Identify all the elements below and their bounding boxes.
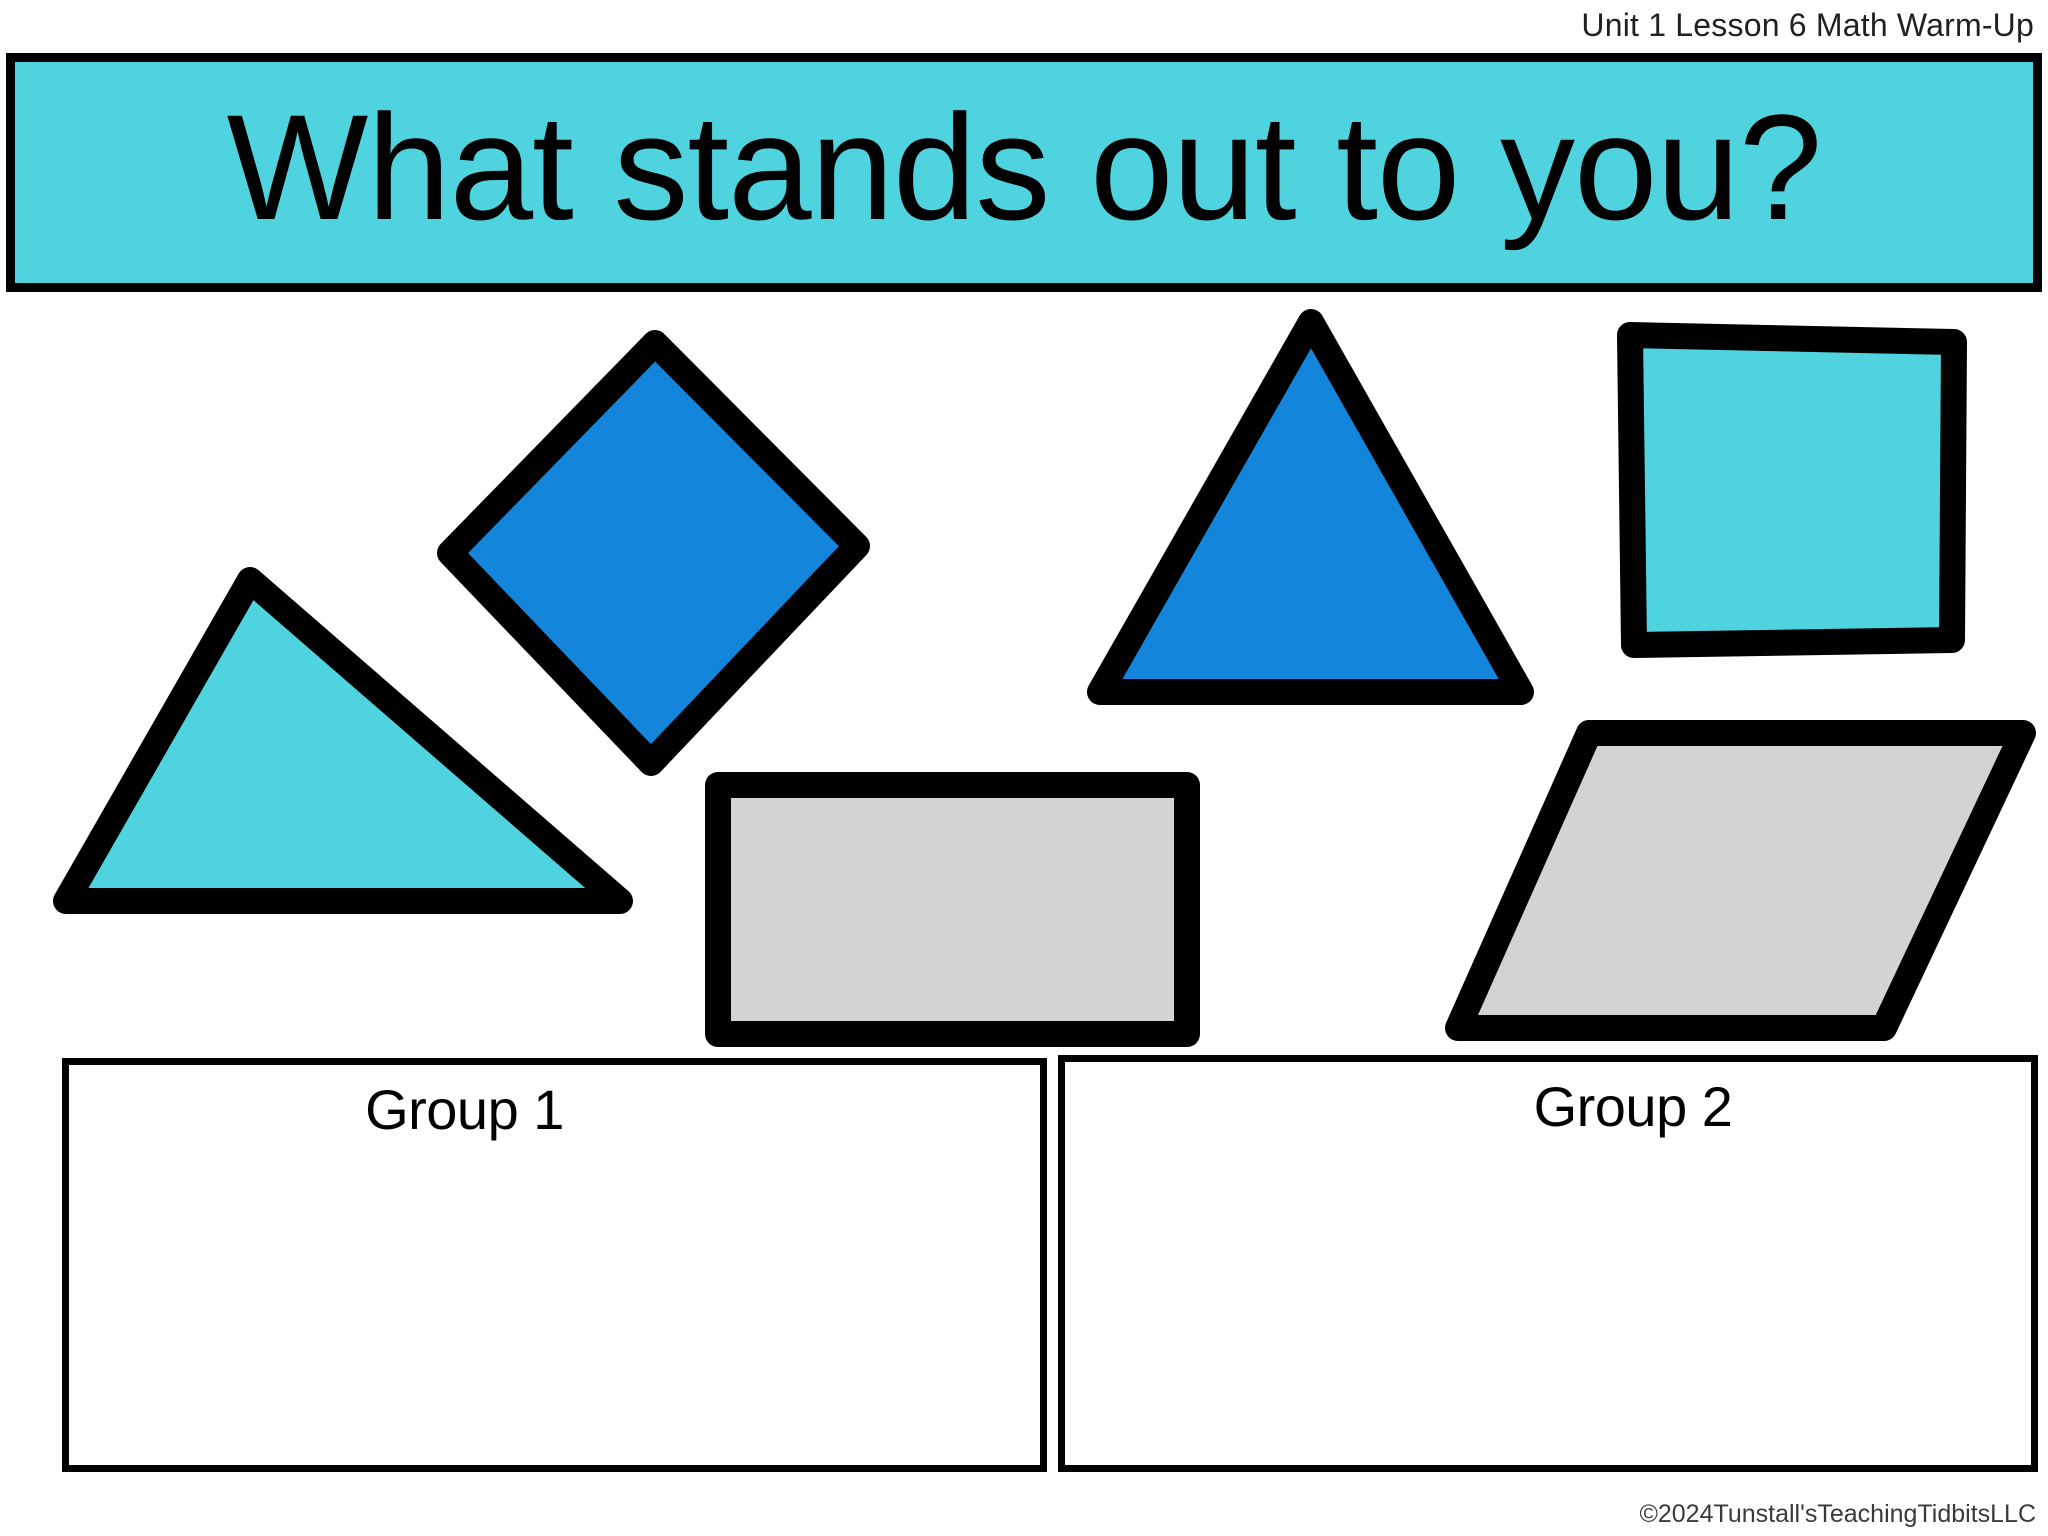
title-banner: What stands out to you? xyxy=(6,53,2042,292)
gray-rectangle-shape[interactable] xyxy=(718,785,1187,1034)
blue-diamond-shape[interactable] xyxy=(450,343,857,763)
group-1-label: Group 1 xyxy=(0,1075,950,1145)
copyright-notice: ©2024Tunstall'sTeachingTidbitsLLC xyxy=(1639,1498,2036,1530)
page-title: What stands out to you? xyxy=(227,92,1822,242)
group-2-label: Group 2 xyxy=(1150,1072,2048,1142)
gray-parallelogram-shape[interactable] xyxy=(1458,733,2023,1028)
group-2-dropzone[interactable]: Group 2 xyxy=(1058,1055,2038,1472)
teal-square-shape[interactable] xyxy=(1630,335,1954,645)
group-1-dropzone[interactable]: Group 1 xyxy=(62,1058,1047,1472)
lesson-header-label: Unit 1 Lesson 6 Math Warm-Up xyxy=(1581,4,2034,46)
teal-triangle-shape[interactable] xyxy=(66,580,620,901)
blue-triangle-shape[interactable] xyxy=(1100,322,1521,692)
